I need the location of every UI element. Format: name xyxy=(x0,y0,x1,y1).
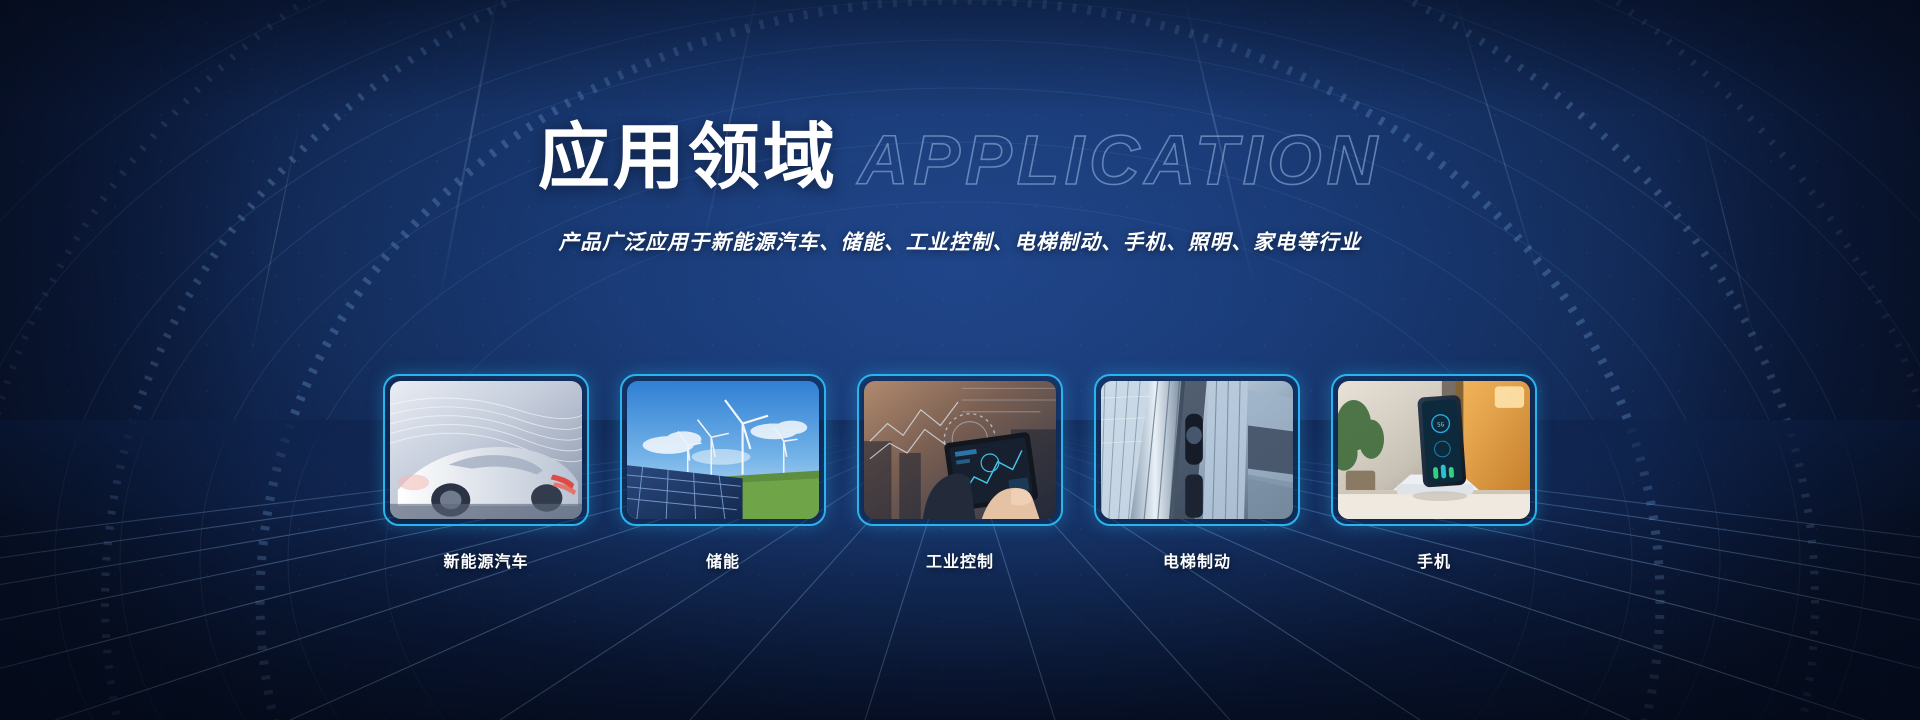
card-frame[interactable] xyxy=(857,374,1063,526)
card-label: 手机 xyxy=(1417,548,1451,572)
page-title-en: APPLICATION xyxy=(858,125,1382,195)
banner-subtitle: 产品广泛应用于新能源汽车、储能、工业控制、电梯制动、手机、照明、家电等行业 xyxy=(0,225,1920,255)
application-card[interactable]: 新能源汽车 xyxy=(383,374,589,572)
card-label: 工业控制 xyxy=(926,548,994,572)
card-label: 电梯制动 xyxy=(1163,548,1231,572)
svg-text:5G: 5G xyxy=(1437,422,1445,429)
application-card[interactable]: 储能 xyxy=(620,374,826,572)
banner-heading: 应用领域 APPLICATION xyxy=(0,121,1920,195)
application-card[interactable]: 5G 手机 xyxy=(1331,374,1537,572)
application-card-list: 新能源汽车 xyxy=(0,374,1920,572)
card-frame[interactable]: 5G xyxy=(1331,374,1537,526)
electric-car-photo xyxy=(390,381,582,519)
page-title-cn: 应用领域 xyxy=(538,122,838,194)
card-frame[interactable] xyxy=(1094,374,1300,526)
industrial-tablet-control-photo xyxy=(864,381,1056,519)
card-label: 储能 xyxy=(706,548,740,572)
application-card[interactable]: 电梯制动 xyxy=(1094,374,1300,572)
card-label: 新能源汽车 xyxy=(443,548,528,572)
solar-wind-farm-photo xyxy=(627,381,819,519)
smartphone-wireless-charger-photo: 5G xyxy=(1338,381,1530,519)
application-card[interactable]: 工业控制 xyxy=(857,374,1063,572)
application-banner: 应用领域 APPLICATION 产品广泛应用于新能源汽车、储能、工业控制、电梯… xyxy=(0,0,1920,720)
elevator-shaft-photo xyxy=(1101,381,1293,519)
card-frame[interactable] xyxy=(620,374,826,526)
card-frame[interactable] xyxy=(383,374,589,526)
